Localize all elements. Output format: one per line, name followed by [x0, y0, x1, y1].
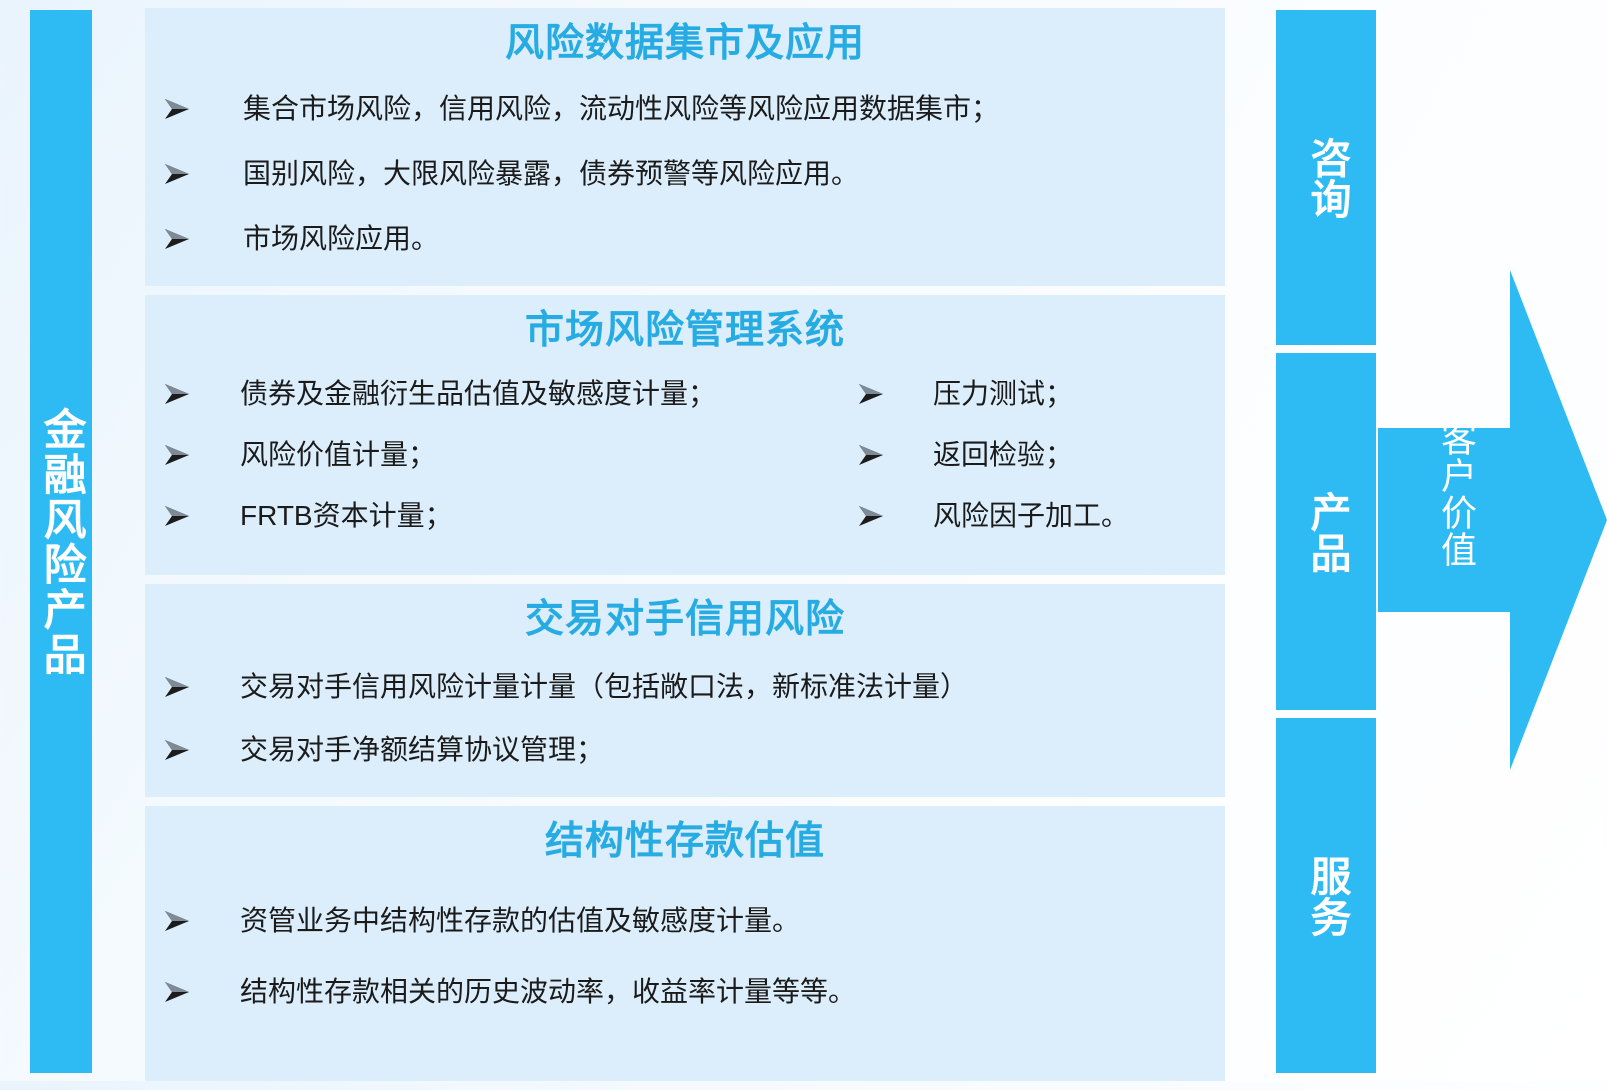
bullet-list: 资管业务中结构性存款的估值及敏感度计量。 结构性存款相关的历史波动率，收益率计量… — [145, 873, 1225, 1055]
bullet-text: 风险价值计量； — [197, 437, 436, 472]
bullet-item: 压力测试； — [845, 376, 1225, 411]
arrow-bullet-icon — [845, 383, 897, 405]
arrow-bullet-icon — [145, 444, 197, 466]
panel-structured-deposit-valuation: 结构性存款估值 资管业务中结构性存款的估值及敏感度计量。 结构性存款相关的历史波… — [145, 806, 1225, 1081]
bullet-list: 集合市场风险，信用风险，流动性风险等风险应用数据集市； 国别风险，大限风险暴露，… — [145, 75, 1225, 296]
arrow-bullet-icon — [145, 383, 197, 405]
bullet-item: 结构性存款相关的历史波动率，收益率计量等等。 — [145, 974, 1225, 1009]
panel-risk-data-mart: 风险数据集市及应用 集合市场风险，信用风险，流动性风险等风险应用数据集市； 国别… — [145, 8, 1225, 286]
customer-value-arrow: 客户价值 — [1378, 270, 1607, 770]
bullet-item: 返回检验； — [845, 437, 1225, 472]
bullet-item: 资管业务中结构性存款的估值及敏感度计量。 — [145, 903, 1225, 938]
panel-title: 交易对手信用风险 — [145, 584, 1225, 651]
bullet-item: 风险价值计量； — [145, 437, 845, 472]
bullet-row: FRTB资本计量； 风险因子加工。 — [145, 498, 1225, 533]
arrow-bullet-icon — [845, 505, 897, 527]
bullet-row: 风险价值计量； 返回检验； — [145, 437, 1225, 472]
bullet-item: 交易对手信用风险计量计量（包括敞口法，新标准法计量） — [145, 669, 1225, 704]
bullet-text: 交易对手信用风险计量计量（包括敞口法，新标准法计量） — [197, 669, 968, 704]
arrow-bullet-icon — [845, 444, 897, 466]
stage-item-consulting: 咨询 — [1276, 10, 1376, 345]
stage-item-label: 咨询 — [1303, 137, 1349, 219]
panel-counterparty-credit-risk: 交易对手信用风险 交易对手信用风险计量计量（包括敞口法，新标准法计量） 交易对手… — [145, 584, 1225, 797]
diagram-canvas: 金融风险产品 风险数据集市及应用 集合市场风险，信用风险，流动性风险等风险应用数… — [0, 0, 1607, 1081]
arrow-bullet-icon — [145, 228, 197, 250]
stage-item-product: 产品 — [1276, 353, 1376, 710]
bullet-list: 交易对手信用风险计量计量（包括敞口法，新标准法计量） 交易对手净额结算协议管理； — [145, 651, 1225, 805]
stage-item-service: 服务 — [1276, 718, 1376, 1073]
bullet-text: 压力测试； — [897, 376, 1073, 411]
bullet-text: 集合市场风险，信用风险，流动性风险等风险应用数据集市； — [197, 91, 999, 126]
panel-title: 结构性存款估值 — [145, 806, 1225, 873]
bullet-text: 交易对手净额结算协议管理； — [197, 732, 604, 767]
bullet-item: 国别风险，大限风险暴露，债券预警等风险应用。 — [145, 156, 1225, 191]
bullet-text: 市场风险应用。 — [197, 221, 439, 256]
arrow-bullet-icon — [145, 505, 197, 527]
bullet-text: 债券及金融衍生品估值及敏感度计量； — [197, 376, 716, 411]
bullet-item: 集合市场风险，信用风险，流动性风险等风险应用数据集市； — [145, 91, 1225, 126]
arrow-bullet-icon — [145, 98, 197, 120]
bullet-text: 结构性存款相关的历史波动率，收益率计量等等。 — [197, 974, 856, 1009]
bullet-item: 交易对手净额结算协议管理； — [145, 732, 1225, 767]
stage-item-label: 产品 — [1303, 491, 1349, 573]
arrow-bullet-icon — [145, 739, 197, 761]
panel-title: 市场风险管理系统 — [145, 295, 1225, 362]
left-category-label: 金融风险产品 — [36, 407, 86, 677]
arrow-bullet-icon — [145, 676, 197, 698]
bullet-item: 债券及金融衍生品估值及敏感度计量； — [145, 376, 845, 411]
bullet-row: 债券及金融衍生品估值及敏感度计量； 压力测试； — [145, 376, 1225, 411]
bullet-text: 资管业务中结构性存款的估值及敏感度计量。 — [197, 903, 800, 938]
arrow-bullet-icon — [145, 163, 197, 185]
bullet-text: 国别风险，大限风险暴露，债券预警等风险应用。 — [197, 156, 859, 191]
bullet-item: 风险因子加工。 — [845, 498, 1225, 533]
bullet-item: FRTB资本计量； — [145, 498, 845, 533]
arrow-bullet-icon — [145, 981, 197, 1003]
stage-column: 咨询 产品 服务 — [1276, 10, 1376, 1073]
panel-title: 风险数据集市及应用 — [145, 8, 1225, 75]
bullet-text: 风险因子加工。 — [897, 498, 1129, 533]
arrow-bullet-icon — [145, 910, 197, 932]
bullet-item: 市场风险应用。 — [145, 221, 1225, 256]
bullet-list: 债券及金融衍生品估值及敏感度计量； 压力测试； 风险价值计量； — [145, 362, 1225, 569]
panel-market-risk-system: 市场风险管理系统 债券及金融衍生品估值及敏感度计量； 压力测试； — [145, 295, 1225, 575]
bullet-text: 返回检验； — [897, 437, 1073, 472]
arrow-label: 客户价值 — [1406, 420, 1476, 568]
stage-item-label: 服务 — [1303, 855, 1349, 937]
panel-stack: 风险数据集市及应用 集合市场风险，信用风险，流动性风险等风险应用数据集市； 国别… — [145, 8, 1225, 1090]
bullet-text: FRTB资本计量； — [197, 498, 453, 533]
left-category-bar: 金融风险产品 — [30, 10, 92, 1073]
